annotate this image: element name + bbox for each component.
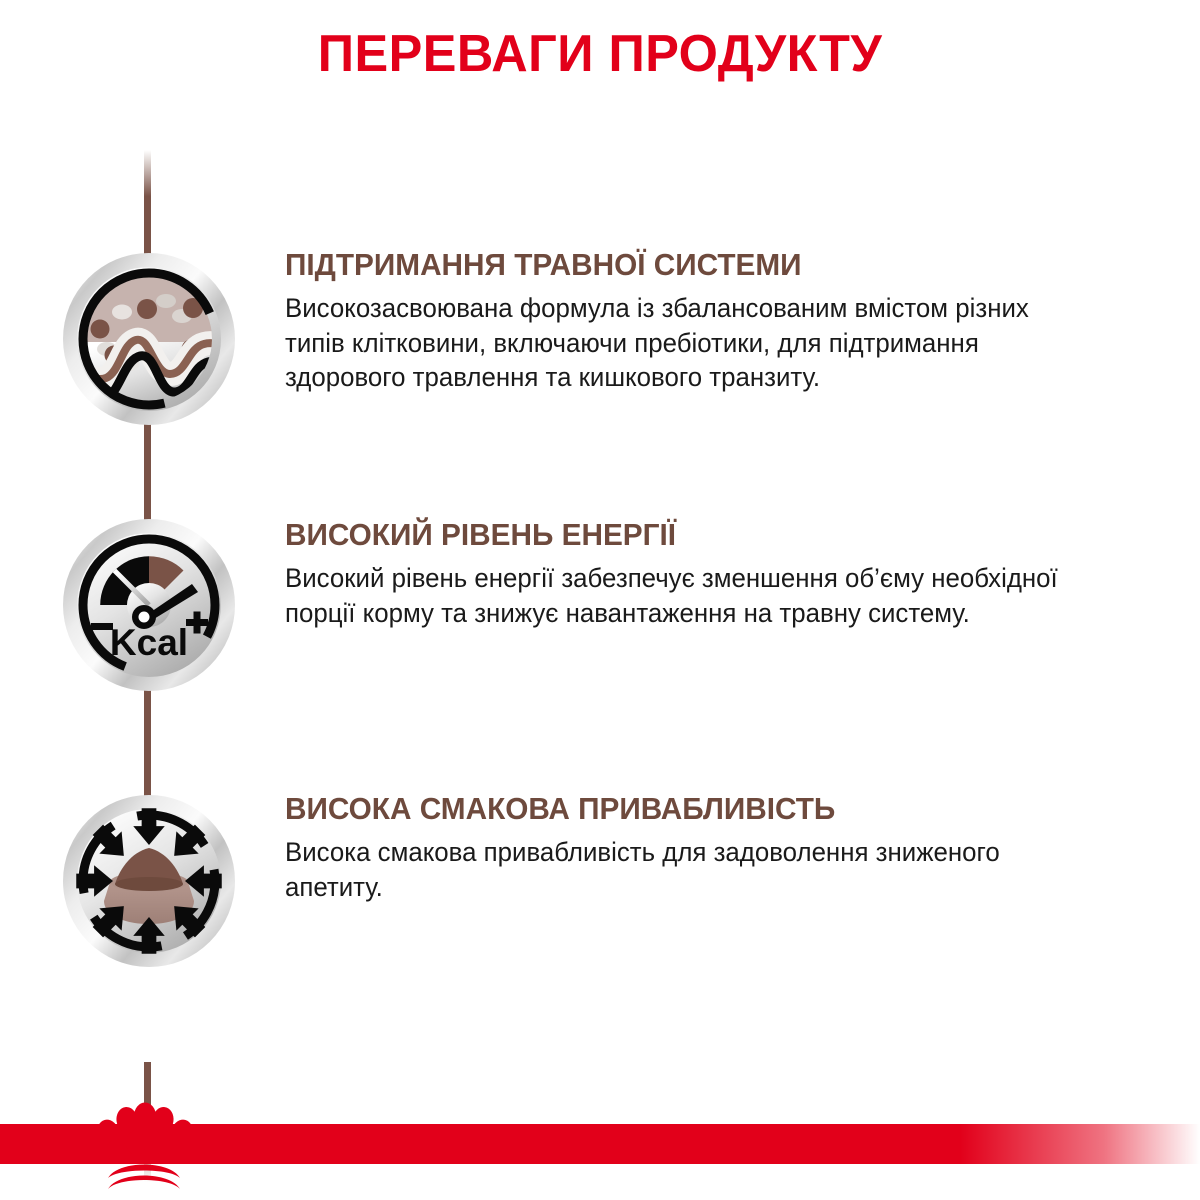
digestive-system-icon <box>62 252 236 426</box>
benefit-text-energy: ВИСОКИЙ РІВЕНЬ ЕНЕРГІЇ Високий рівень ен… <box>285 518 1103 630</box>
page-title: ПЕРЕВАГИ ПРОДУКТУ <box>18 24 1182 84</box>
benefit-body: Високозасвоювана формула із збалансовани… <box>285 291 1083 394</box>
kcal-label: Kcal <box>110 622 188 663</box>
benefit-heading: ВИСОКА СМАКОВА ПРИВАБЛИВІСТЬ <box>285 792 1070 826</box>
connector-rail-2 <box>144 688 151 808</box>
benefit-body: Висока смакова привабливість для задовол… <box>285 835 1083 904</box>
connector-rail-top <box>144 150 151 260</box>
benefit-body: Високий рівень енергії забезпечує зменше… <box>285 561 1083 630</box>
kcal-gauge-icon: Kcal <box>62 518 236 692</box>
royal-canin-crown-logo <box>82 1094 206 1198</box>
benefit-text-palatability: ВИСОКА СМАКОВА ПРИВАБЛИВІСТЬ Висока смак… <box>285 792 1103 904</box>
benefit-heading: ПІДТРИМАННЯ ТРАВНОЇ СИСТЕМИ <box>285 248 1070 282</box>
palatability-bowl-icon <box>62 794 236 968</box>
benefit-text-digestive: ПІДТРИМАННЯ ТРАВНОЇ СИСТЕМИ Високозасвою… <box>285 248 1103 394</box>
benefit-heading: ВИСОКИЙ РІВЕНЬ ЕНЕРГІЇ <box>285 518 1070 552</box>
product-benefits-page: ПЕРЕВАГИ ПРОДУКТУ <box>0 0 1200 1200</box>
